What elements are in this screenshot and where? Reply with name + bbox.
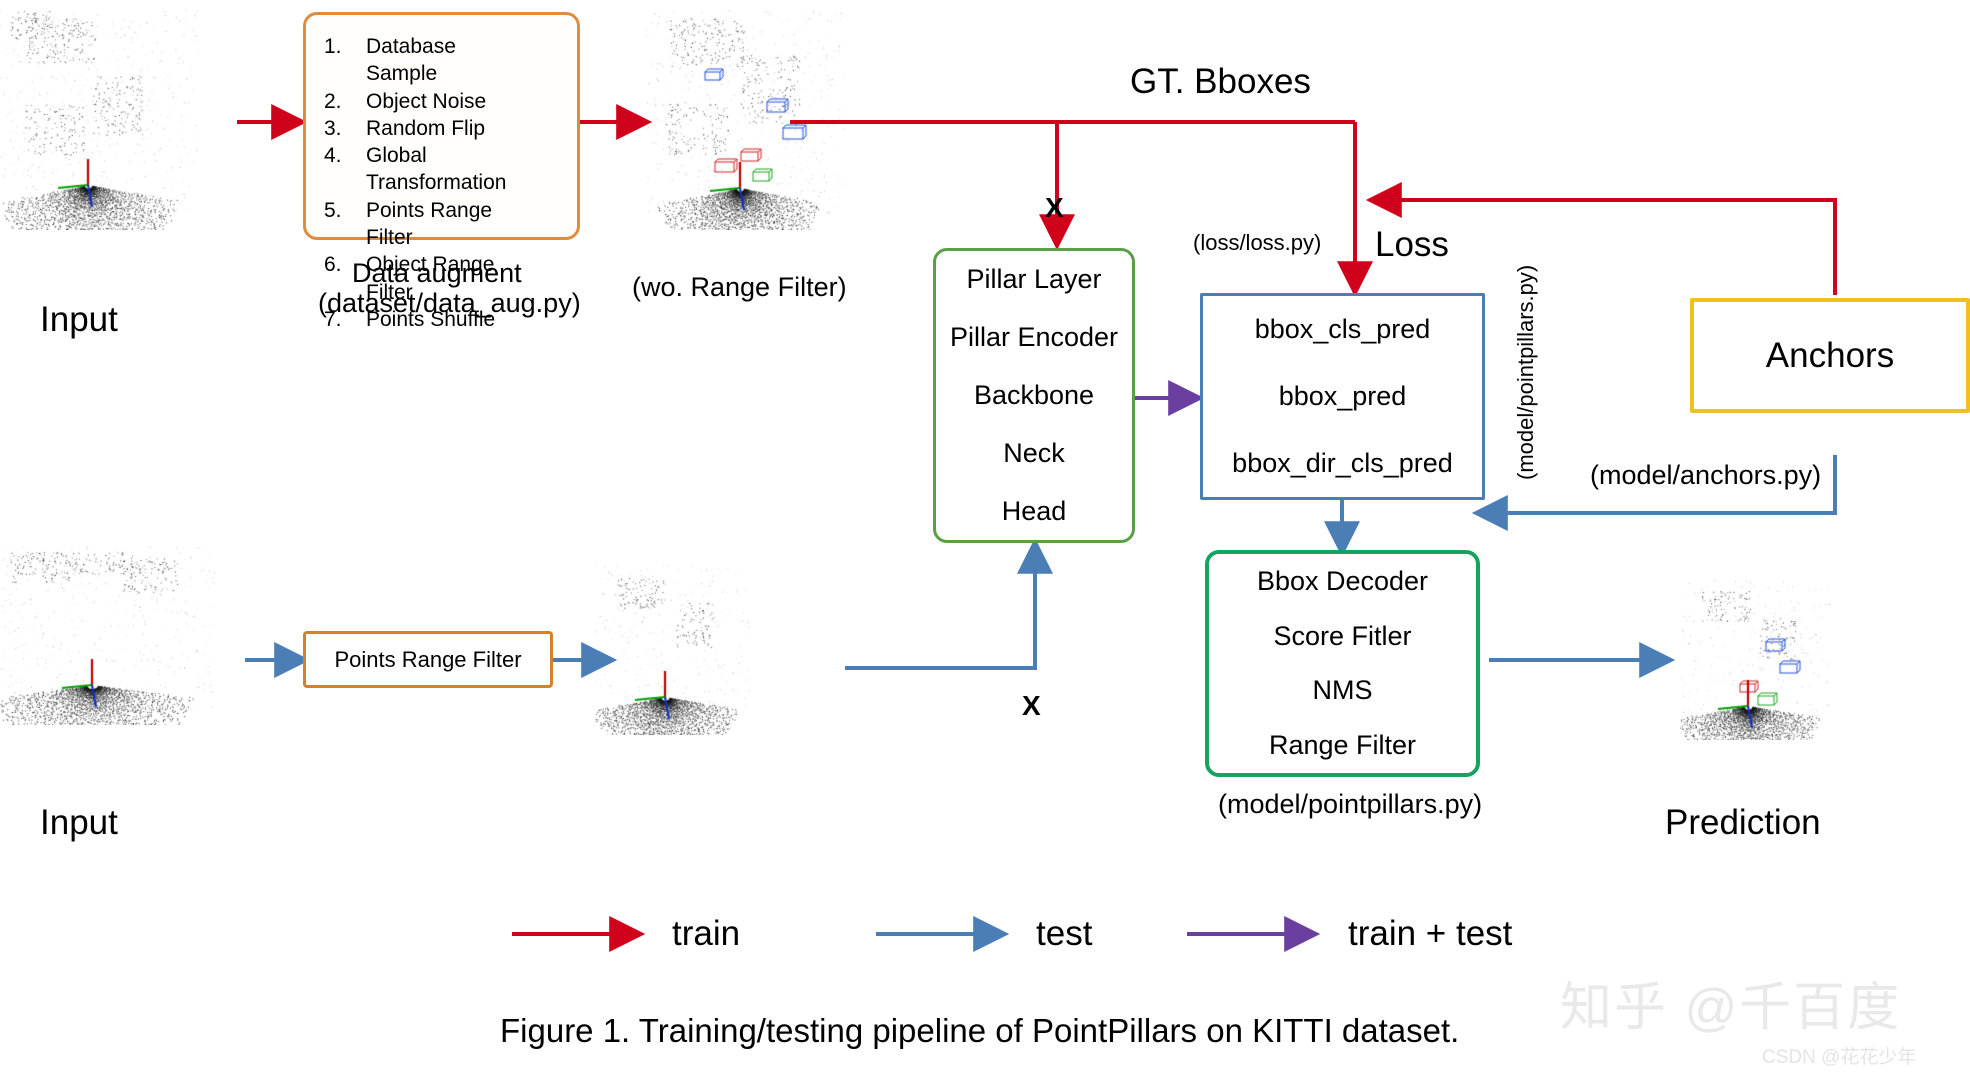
step-number: 3.: [324, 115, 366, 142]
network-box[interactable]: Pillar Layer Pillar Encoder Backbone Nec…: [933, 248, 1135, 543]
legend-label-train: train: [672, 914, 740, 954]
decoder-step: Score Fitler: [1273, 621, 1411, 652]
network-input-symbol-top: X: [1045, 192, 1064, 224]
list-item: 5. Points Range Filter: [324, 197, 531, 252]
network-layer: Neck: [1003, 438, 1065, 469]
loss-file-label: (loss/loss.py): [1193, 230, 1321, 255]
bbox-decoder-box[interactable]: Bbox Decoder Score Fitler NMS Range Filt…: [1205, 550, 1480, 777]
anchors-title: Anchors: [1766, 336, 1894, 376]
input-pointcloud-test: [0, 545, 215, 725]
filtered-pointcloud: [595, 565, 750, 735]
list-item: 4. Global Transformation: [324, 142, 531, 197]
step-number: 4.: [324, 142, 366, 197]
points-range-filter-box[interactable]: Points Range Filter: [303, 631, 553, 688]
data-augment-title: Data augment: [352, 258, 522, 289]
zhihu-watermark: 知乎 @千百度: [1560, 965, 1901, 1040]
network-input-symbol-bottom: X: [1022, 690, 1041, 722]
step-text: Database Sample: [366, 33, 531, 88]
loss-title: Loss: [1375, 225, 1449, 265]
gt-bboxes-label: GT. Bboxes: [1130, 62, 1311, 102]
augmented-pointcloud: [645, 10, 845, 230]
data-augment-box[interactable]: 1. Database Sample 2. Object Noise 3. Ra…: [303, 12, 580, 240]
data-augment-file: (dataset/data_aug.py): [318, 288, 581, 319]
figure-canvas: Input 1. Database Sample 2. Object Noise…: [0, 0, 1970, 1083]
step-text: Object Noise: [366, 88, 486, 115]
network-layer: Head: [1002, 496, 1067, 527]
legend-label-train-test: train + test: [1348, 914, 1512, 954]
prediction-item: bbox_cls_pred: [1255, 314, 1431, 345]
predictions-box[interactable]: bbox_cls_pred bbox_pred bbox_dir_cls_pre…: [1200, 293, 1485, 500]
network-layer: Pillar Encoder: [950, 322, 1118, 353]
list-item: 2. Object Noise: [324, 88, 531, 115]
prediction-pointcloud: [1680, 580, 1830, 740]
prediction-item: bbox_dir_cls_pred: [1232, 448, 1453, 479]
input-label-train: Input: [40, 300, 118, 340]
prediction-item: bbox_pred: [1279, 381, 1407, 412]
decoder-step: Range Filter: [1269, 730, 1416, 761]
step-number: 2.: [324, 88, 366, 115]
legend-label-test: test: [1036, 914, 1092, 954]
augmented-cloud-label: (wo. Range Filter): [632, 272, 847, 303]
step-number: 5.: [324, 197, 366, 252]
anchors-box[interactable]: Anchors: [1690, 298, 1970, 413]
input-label-test: Input: [40, 803, 118, 843]
step-number: 1.: [324, 33, 366, 88]
list-item: 3. Random Flip: [324, 115, 531, 142]
decoder-step: NMS: [1313, 675, 1373, 706]
csdn-watermark: CSDN @花花少年: [1762, 1042, 1916, 1069]
network-layer: Pillar Layer: [966, 264, 1101, 295]
decoder-step: Bbox Decoder: [1257, 566, 1428, 597]
decoder-file-label: (model/pointpillars.py): [1218, 789, 1482, 820]
list-item: 1. Database Sample: [324, 33, 531, 88]
input-pointcloud-train: [0, 10, 200, 230]
prediction-label: Prediction: [1665, 803, 1821, 843]
step-text: Global Transformation: [366, 142, 531, 197]
figure-caption: Figure 1. Training/testing pipeline of P…: [500, 1012, 1459, 1050]
anchors-file-label: (model/anchors.py): [1590, 460, 1821, 491]
points-range-filter-label: Points Range Filter: [334, 647, 521, 673]
step-text: Random Flip: [366, 115, 485, 142]
network-layer: Backbone: [974, 380, 1094, 411]
predictions-file-label: (model/pointpillars.py): [1513, 265, 1538, 480]
step-text: Points Range Filter: [366, 197, 531, 252]
